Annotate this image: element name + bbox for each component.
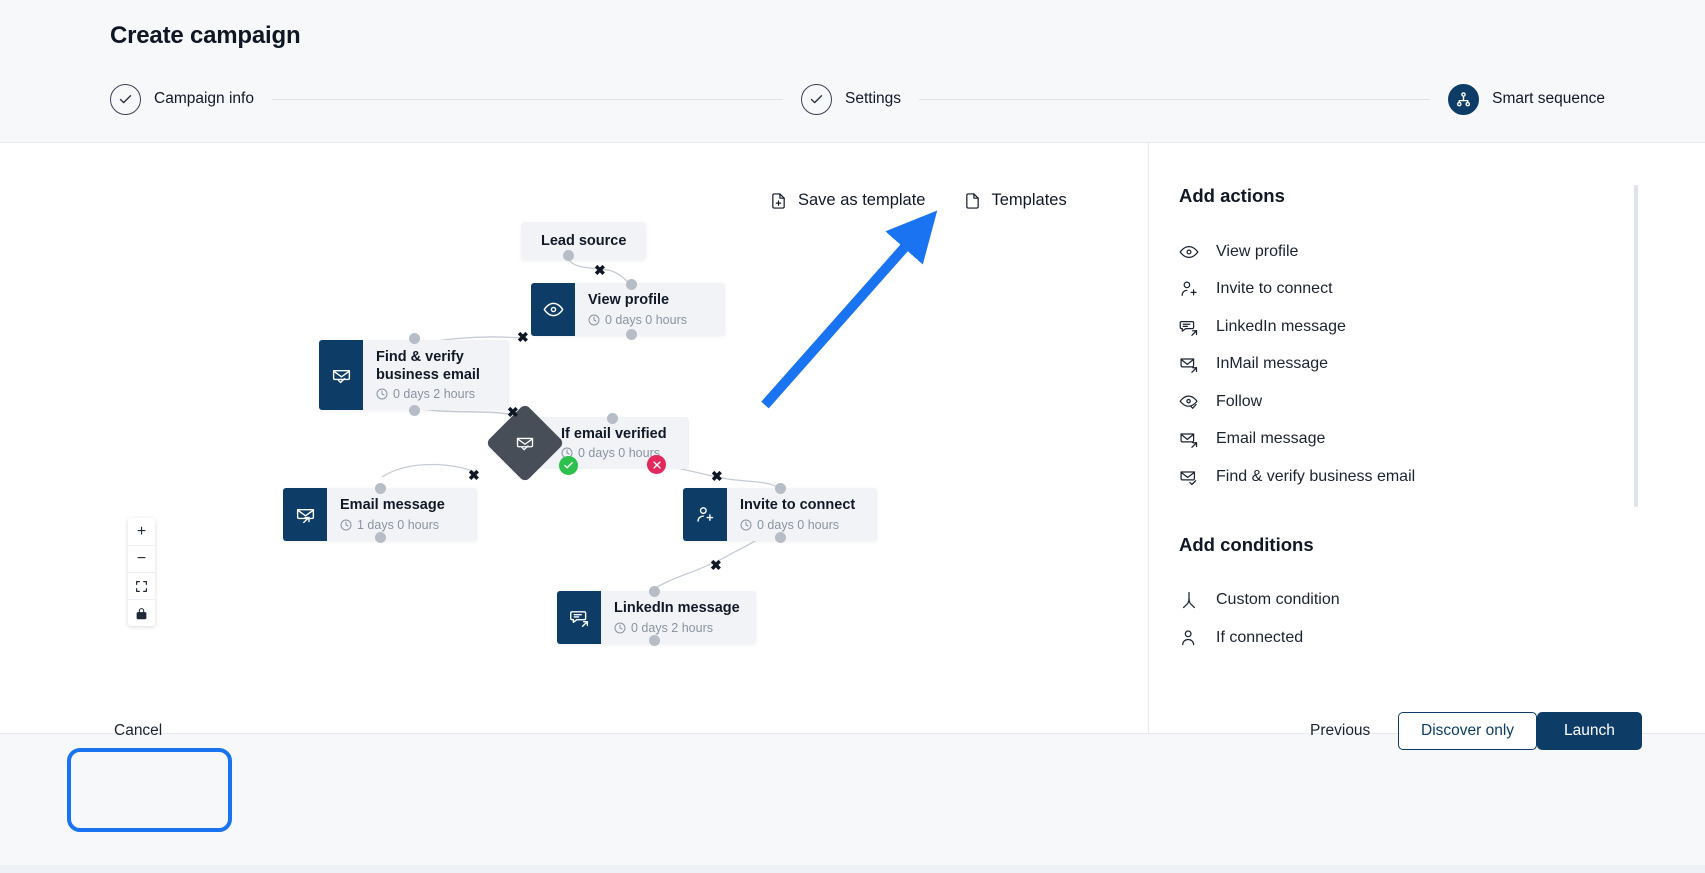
node-port[interactable] xyxy=(626,329,637,340)
bottom-strip xyxy=(0,865,1705,873)
condition-label: Custom condition xyxy=(1216,591,1340,609)
page-footer xyxy=(0,733,1705,865)
node-find-verify-email-title: Find & verify business email xyxy=(376,349,493,384)
mail-send-icon xyxy=(1179,429,1199,449)
fit-view-icon[interactable] xyxy=(128,572,155,599)
node-port[interactable] xyxy=(607,413,618,424)
check-icon xyxy=(801,84,832,115)
linkedin-message-icon xyxy=(557,591,601,644)
delay-text: 1 days 0 hours xyxy=(357,518,439,532)
lock-icon[interactable] xyxy=(128,599,155,626)
sequence-builder-body: Save as template Templates xyxy=(0,143,1705,733)
action-label: Invite to connect xyxy=(1216,280,1333,298)
action-item-email-message[interactable]: Email message xyxy=(1179,421,1705,459)
user-plus-icon xyxy=(1179,279,1199,299)
zoom-out-button[interactable]: − xyxy=(128,545,155,572)
sitemap-icon xyxy=(1448,84,1479,115)
discover-only-button[interactable]: Discover only xyxy=(1398,712,1537,750)
user-plus-icon xyxy=(683,488,727,541)
node-linkedin-message-title: LinkedIn message xyxy=(614,600,740,618)
check-icon xyxy=(110,84,141,115)
condition-item-custom-condition[interactable]: Custom condition xyxy=(1179,582,1705,620)
action-label: Find & verify business email xyxy=(1216,468,1415,486)
launch-button[interactable]: Launch xyxy=(1537,712,1642,750)
stepper-divider-1 xyxy=(272,99,783,100)
action-item-view-profile[interactable]: View profile xyxy=(1179,233,1705,271)
node-lead-source[interactable]: Lead source xyxy=(521,222,646,260)
action-item-linkedin-message[interactable]: LinkedIn message xyxy=(1179,308,1705,346)
eye-check-icon xyxy=(1179,392,1199,412)
step-label-settings: Settings xyxy=(845,90,901,108)
action-label: View profile xyxy=(1216,243,1298,261)
node-view-profile-delay: 0 days 0 hours xyxy=(588,313,709,327)
node-if-email-verified-title: If email verified xyxy=(561,426,667,444)
node-port[interactable] xyxy=(375,532,386,543)
linkedin-message-icon xyxy=(1179,317,1199,337)
step-smart-sequence[interactable]: Smart sequence xyxy=(1448,84,1605,115)
panel-scrollbar[interactable] xyxy=(1634,185,1638,507)
node-invite-to-connect-title: Invite to connect xyxy=(740,497,861,515)
node-lead-source-title: Lead source xyxy=(541,233,626,249)
inmail-icon xyxy=(1179,354,1199,374)
delay-text: 0 days 2 hours xyxy=(393,387,475,401)
condition-item-if-connected[interactable]: If connected xyxy=(1179,619,1705,657)
mail-check-icon xyxy=(319,340,363,410)
node-email-message-title: Email message xyxy=(340,497,461,515)
node-port[interactable] xyxy=(649,635,660,646)
mail-send-icon xyxy=(283,488,327,541)
node-view-profile[interactable]: View profile 0 days 0 hours xyxy=(531,283,725,336)
mail-check-icon xyxy=(1179,467,1199,487)
cancel-button[interactable]: Cancel xyxy=(110,712,166,750)
page-title: Create campaign xyxy=(110,22,300,50)
action-label: Follow xyxy=(1216,393,1262,411)
node-port[interactable] xyxy=(375,483,386,494)
campaign-stepper: Campaign info Settings xyxy=(110,83,1605,115)
delay-text: 0 days 0 hours xyxy=(605,313,687,327)
eye-icon xyxy=(1179,242,1199,262)
stepper-divider-2 xyxy=(919,99,1430,100)
node-port[interactable] xyxy=(409,405,420,416)
eye-icon xyxy=(531,283,575,336)
create-campaign-screen: Create campaign Campaign info Settings xyxy=(0,0,1705,873)
add-actions-panel: Add actions View profile Invite to conne… xyxy=(1148,143,1705,733)
branch-icon xyxy=(1179,590,1199,610)
condition-label: If connected xyxy=(1216,629,1303,647)
zoom-controls: + − xyxy=(128,518,155,626)
action-label: InMail message xyxy=(1216,355,1328,373)
node-email-message-delay: 1 days 0 hours xyxy=(340,518,461,532)
node-port[interactable] xyxy=(626,279,637,290)
delay-text: 0 days 0 hours xyxy=(757,518,839,532)
action-label: LinkedIn message xyxy=(1216,318,1346,336)
edge-remove-button[interactable]: ✖ xyxy=(711,469,723,483)
action-item-inmail-message[interactable]: InMail message xyxy=(1179,346,1705,384)
node-view-profile-title: View profile xyxy=(588,292,709,310)
edge-remove-button[interactable]: ✖ xyxy=(594,263,606,277)
edge-remove-button[interactable]: ✖ xyxy=(468,468,480,482)
edge-remove-button[interactable]: ✖ xyxy=(517,330,529,344)
node-find-verify-email[interactable]: Find & verify business email 0 days 2 ho… xyxy=(319,340,509,410)
node-port[interactable] xyxy=(563,250,574,261)
node-port[interactable] xyxy=(775,483,786,494)
previous-button[interactable]: Previous xyxy=(1306,712,1374,750)
page-header: Create campaign Campaign info Settings xyxy=(0,0,1705,143)
delay-text: 0 days 2 hours xyxy=(631,621,713,635)
node-port[interactable] xyxy=(775,532,786,543)
step-campaign-info[interactable]: Campaign info xyxy=(110,84,254,115)
step-settings[interactable]: Settings xyxy=(801,84,901,115)
check-badge-icon[interactable] xyxy=(559,456,578,475)
node-port[interactable] xyxy=(409,333,420,344)
action-item-find-verify-business-email[interactable]: Find & verify business email xyxy=(1179,458,1705,496)
user-icon xyxy=(1179,628,1199,648)
node-find-verify-email-delay: 0 days 2 hours xyxy=(376,387,493,401)
edge-remove-button[interactable]: ✖ xyxy=(507,405,519,419)
action-item-follow[interactable]: Follow xyxy=(1179,383,1705,421)
flow-canvas[interactable]: Save as template Templates xyxy=(0,143,1148,733)
add-actions-heading: Add actions xyxy=(1179,185,1705,207)
x-badge-icon[interactable] xyxy=(647,455,666,474)
action-item-invite-to-connect[interactable]: Invite to connect xyxy=(1179,271,1705,309)
node-invite-to-connect-delay: 0 days 0 hours xyxy=(740,518,861,532)
node-linkedin-message-delay: 0 days 2 hours xyxy=(614,621,740,635)
edge-remove-button[interactable]: ✖ xyxy=(710,558,722,572)
step-label-smart-sequence: Smart sequence xyxy=(1492,90,1605,108)
action-label: Email message xyxy=(1216,430,1325,448)
node-port[interactable] xyxy=(649,586,660,597)
mail-check-icon xyxy=(485,403,564,482)
add-conditions-heading: Add conditions xyxy=(1179,534,1705,556)
step-label-campaign-info: Campaign info xyxy=(154,90,254,108)
zoom-in-button[interactable]: + xyxy=(128,518,155,545)
